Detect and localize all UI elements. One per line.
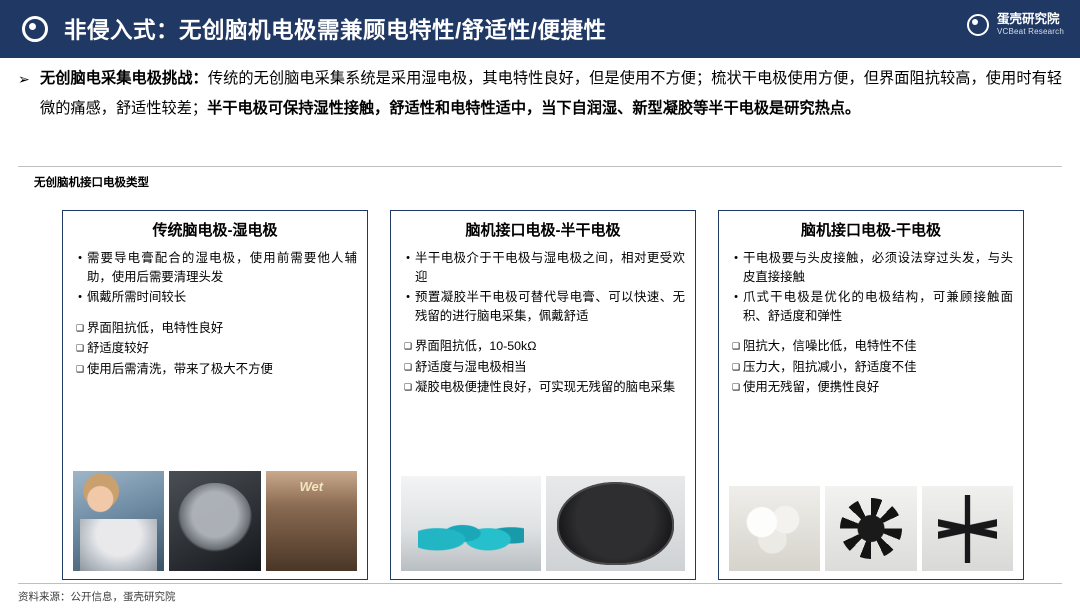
card-title: 脑机接口电极-干电极 [729,221,1013,241]
list-item: •佩戴所需时间较长 [73,288,357,307]
list-item-text: 需要导电膏配合的湿电极，使用前需要他人辅助，使用后需要清理头发 [87,249,357,286]
dot-marker-icon: • [73,249,87,286]
slide-root: 非侵入式：无创脑机电极需兼顾电特性/舒适性/便捷性 蛋壳研究院 VCBeat R… [0,0,1080,608]
photo-dry-electrode-pellets [729,486,820,571]
list-item-text: 界面阻抗低，10-50kΩ [415,337,685,356]
dot-marker-icon: • [73,288,87,307]
list-item: ❑凝胶电极便捷性良好，可实现无残留的脑电采集 [401,378,685,397]
square-marker-icon: ❑ [73,319,87,338]
arrow-bullet-icon: ➢ [18,64,40,94]
card-body: •干电极要与头皮接触，必须设法穿过头发，与头皮直接接触 •爪式干电极是优化的电极… [729,249,1013,399]
dot-marker-icon: • [729,249,743,286]
source-note: 资料来源：公开信息，蛋壳研究院 [18,589,176,604]
list-item-text: 界面阻抗低，电特性良好 [87,319,357,338]
brand-text: 蛋壳研究院 VCBeat Research [997,12,1064,37]
list-item-text: 压力大，阻抗减小，舒适度不佳 [743,358,1013,377]
list-item: •爪式干电极是优化的电极结构，可兼顾接触面积、舒适度和弹性 [729,288,1013,325]
spacer [73,309,357,319]
card-body: •需要导电膏配合的湿电极，使用前需要他人辅助，使用后需要清理头发 •佩戴所需时间… [73,249,357,380]
card-group: 传统脑电极-湿电极 •需要导电膏配合的湿电极，使用前需要他人辅助，使用后需要清理… [62,210,1024,580]
lead-paragraph: ➢ 无创脑电采集电极挑战：传统的无创脑电采集系统是采用湿电极，其电特性良好，但是… [18,64,1062,124]
list-item: •需要导电膏配合的湿电极，使用前需要他人辅助，使用后需要清理头发 [73,249,357,286]
photo-semi-dry-gel-pins [401,476,541,571]
spacer [401,327,685,337]
list-item-text: 凝胶电极便捷性良好，可实现无残留的脑电采集 [415,378,685,397]
list-item: •半干电极介于干电极与湿电极之间，相对更受欢迎 [401,249,685,286]
brand-block: 蛋壳研究院 VCBeat Research [967,12,1064,37]
list-item-text: 舒适度与湿电极相当 [415,358,685,377]
square-marker-icon: ❑ [73,339,87,358]
list-item-text: 使用无残留，便携性良好 [743,378,1013,397]
list-item: •预置凝胶半干电极可替代导电膏、可以快速、无残留的进行脑电采集，佩戴舒适 [401,288,685,325]
lead-bold-intro: 无创脑电采集电极挑战： [40,70,208,87]
list-item-text: 使用后需清洗，带来了极大不方便 [87,360,357,379]
list-item-text: 佩戴所需时间较长 [87,288,357,307]
list-item: ❑舒适度与湿电极相当 [401,358,685,377]
photo-strip [401,476,685,571]
list-item-text: 舒适度较好 [87,339,357,358]
page-title: 非侵入式：无创脑机电极需兼顾电特性/舒适性/便捷性 [64,13,607,45]
photo-eeg-cap [169,471,260,571]
photo-strip [729,486,1013,571]
card-title: 脑机接口电极-半干电极 [401,221,685,241]
square-marker-icon: ❑ [401,358,415,377]
square-marker-icon: ❑ [729,378,743,397]
spacer [729,327,1013,337]
dot-marker-icon: • [729,288,743,325]
photo-wet-gel-application [73,471,164,571]
list-item: ❑阻抗大，信噪比低，电特性不佳 [729,337,1013,356]
card-semi-dry-electrode: 脑机接口电极-半干电极 •半干电极介于干电极与湿电极之间，相对更受欢迎 •预置凝… [390,210,696,580]
lead-text: 无创脑电采集电极挑战：传统的无创脑电采集系统是采用湿电极，其电特性良好，但是使用… [40,64,1062,124]
photo-claw-dry-electrode [825,486,916,571]
list-item-text: 半干电极介于干电极与湿电极之间，相对更受欢迎 [415,249,685,286]
photo-dry-electrode-prongs [922,486,1013,571]
list-item: ❑界面阻抗低，电特性良好 [73,319,357,338]
list-item: ❑使用无残留，便携性良好 [729,378,1013,397]
list-item: ❑舒适度较好 [73,339,357,358]
square-marker-icon: ❑ [73,360,87,379]
lead-bold-2: 半干电极可保持湿性接触，舒适性和电特性适中，当下自润湿、新型凝胶等半干电极是研究… [207,100,860,117]
card-wet-electrode: 传统脑电极-湿电极 •需要导电膏配合的湿电极，使用前需要他人辅助，使用后需要清理… [62,210,368,580]
brand-name-cn: 蛋壳研究院 [997,12,1064,26]
list-item: ❑使用后需清洗，带来了极大不方便 [73,360,357,379]
header-divider [18,166,1062,167]
photo-wet-hair-back [266,471,357,571]
square-marker-icon: ❑ [401,337,415,356]
list-item: ❑压力大，阻抗减小，舒适度不佳 [729,358,1013,377]
brand-circle-dot-icon [967,14,989,36]
square-marker-icon: ❑ [729,337,743,356]
footer-divider [18,583,1062,584]
list-item-text: 阻抗大，信噪比低，电特性不佳 [743,337,1013,356]
dot-marker-icon: • [401,288,415,325]
dot-marker-icon: • [401,249,415,286]
slide-header: 非侵入式：无创脑机电极需兼顾电特性/舒适性/便捷性 蛋壳研究院 VCBeat R… [0,0,1080,58]
list-item-text: 干电极要与头皮接触，必须设法穿过头发，与头皮直接接触 [743,249,1013,286]
section-label: 无创脑机接口电极类型 [34,174,149,190]
list-item-text: 爪式干电极是优化的电极结构，可兼顾接触面积、舒适度和弹性 [743,288,1013,325]
card-body: •半干电极介于干电极与湿电极之间，相对更受欢迎 •预置凝胶半干电极可替代导电膏、… [401,249,685,399]
photo-strip [73,471,357,571]
circle-dot-logo-icon [22,16,48,42]
brand-name-en: VCBeat Research [997,26,1064,37]
card-dry-electrode: 脑机接口电极-干电极 •干电极要与头皮接触，必须设法穿过头发，与头皮直接接触 •… [718,210,1024,580]
card-title: 传统脑电极-湿电极 [73,221,357,241]
square-marker-icon: ❑ [729,358,743,377]
list-item: •干电极要与头皮接触，必须设法穿过头发，与头皮直接接触 [729,249,1013,286]
list-item: ❑界面阻抗低，10-50kΩ [401,337,685,356]
list-item-text: 预置凝胶半干电极可替代导电膏、可以快速、无残留的进行脑电采集，佩戴舒适 [415,288,685,325]
square-marker-icon: ❑ [401,378,415,397]
photo-semi-dry-headset [546,476,686,571]
